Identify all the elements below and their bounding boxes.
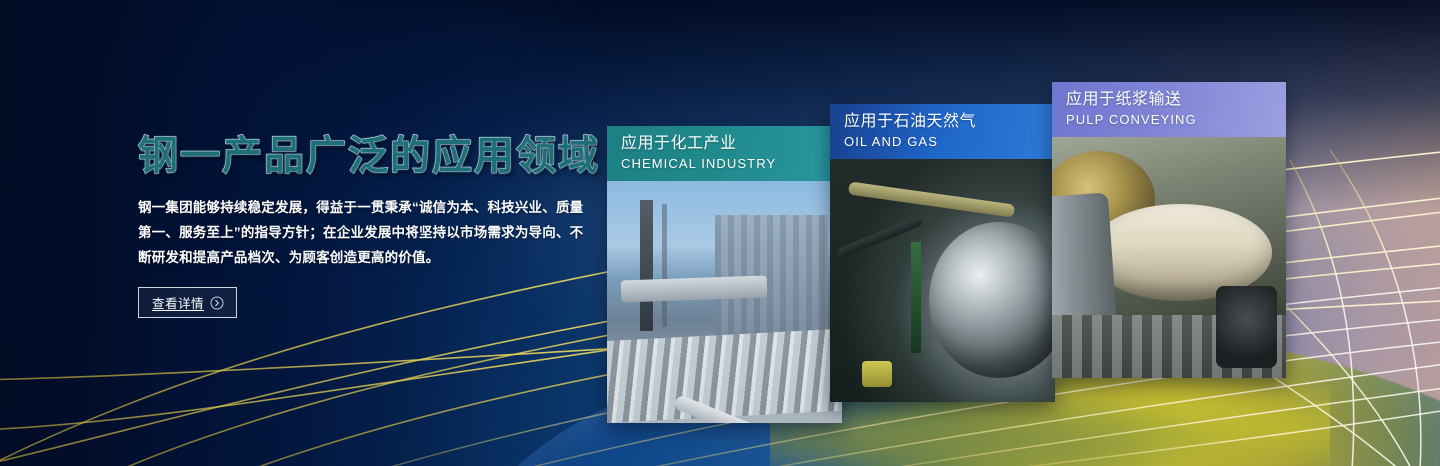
chevron-right-circle-icon [210, 296, 224, 310]
pulp-dark-motor-detail [1216, 286, 1277, 368]
view-details-label: 查看详情 [152, 293, 204, 312]
card-image-pulp-conveying [1052, 137, 1286, 378]
chemical-pipes-detail [607, 328, 842, 423]
oil-steel-drum-detail [929, 222, 1055, 378]
card-image-oil-and-gas [830, 159, 1055, 402]
industry-card-chemical[interactable]: 应用于化工产业 CHEMICAL INDUSTRY [607, 126, 842, 423]
industry-card-oil-and-gas[interactable]: 应用于石油天然气 OIL AND GAS [830, 104, 1055, 402]
card-header-pulp-conveying: 应用于纸浆输送 PULP CONVEYING [1052, 82, 1286, 137]
card-title-cn: 应用于纸浆输送 [1066, 89, 1286, 111]
card-header-oil-and-gas: 应用于石油天然气 OIL AND GAS [830, 104, 1055, 159]
oil-yellow-box-detail [862, 361, 892, 387]
card-title-en: CHEMICAL INDUSTRY [621, 155, 842, 173]
card-header-chemical: 应用于化工产业 CHEMICAL INDUSTRY [607, 126, 842, 181]
hero-banner: 钢一产品广泛的应用领域 钢一集团能够持续稳定发展，得益于一贯秉承“诚信为本、科技… [0, 0, 1440, 466]
hero-copy: 钢一产品广泛的应用领域 钢一集团能够持续稳定发展，得益于一贯秉承“诚信为本、科技… [138, 136, 608, 318]
card-title-en: OIL AND GAS [844, 133, 1055, 151]
oil-green-column-detail [911, 242, 921, 354]
card-title-cn: 应用于石油天然气 [844, 111, 1055, 133]
card-title-en: PULP CONVEYING [1066, 111, 1286, 129]
page-title: 钢一产品广泛的应用领域 [138, 136, 608, 176]
card-image-chemical [607, 181, 842, 423]
industry-card-pulp-conveying[interactable]: 应用于纸浆输送 PULP CONVEYING [1052, 82, 1286, 378]
card-title-cn: 应用于化工产业 [621, 133, 842, 155]
hero-paragraph: 钢一集团能够持续稳定发展，得益于一贯秉承“诚信为本、科技兴业、质量第一、服务至上… [138, 195, 593, 270]
view-details-button[interactable]: 查看详情 [138, 287, 237, 318]
